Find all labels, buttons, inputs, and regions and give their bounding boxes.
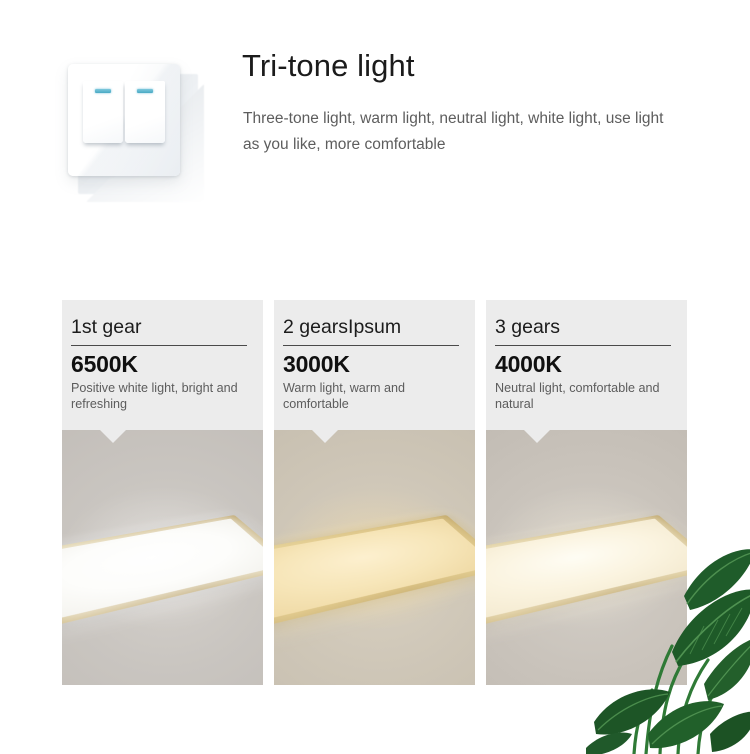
- gear-photo-1: [62, 430, 263, 685]
- gear-panel-3: 3 gears 4000K Neutral light, comfortable…: [486, 300, 687, 685]
- switch-plate: [68, 64, 180, 176]
- gear-label: 2 gearsIpsum: [283, 316, 465, 338]
- gear-panel-1-header: 1st gear 6500K Positive white light, bri…: [62, 300, 263, 430]
- pointer-triangle-icon: [100, 430, 126, 443]
- gear-kelvin-value: 4000K: [495, 351, 677, 377]
- gear-label: 3 gears: [495, 316, 677, 338]
- gear-panel-2: 2 gearsIpsum 3000K Warm light, warm and …: [274, 300, 475, 685]
- wall-switch-illustration: [62, 56, 202, 196]
- gear-kelvin-value: 3000K: [283, 351, 465, 377]
- page-title: Tri-tone light: [242, 48, 415, 84]
- gear-panel-1: 1st gear 6500K Positive white light, bri…: [62, 300, 263, 685]
- gear-kelvin-value: 6500K: [71, 351, 253, 377]
- gear-photo-2: [274, 430, 475, 685]
- led-indicator-icon: [95, 89, 111, 93]
- gear-panel-3-header: 3 gears 4000K Neutral light, comfortable…: [486, 300, 687, 430]
- divider: [283, 345, 459, 346]
- gear-description: Warm light, warm and comfortable: [283, 380, 465, 412]
- gear-description: Neutral light, comfortable and natural: [495, 380, 677, 412]
- divider: [71, 345, 247, 346]
- pointer-triangle-icon: [312, 430, 338, 443]
- hero-section: Tri-tone light Three-tone light, warm li…: [0, 0, 750, 270]
- page-description: Three-tone light, warm light, neutral li…: [243, 106, 683, 158]
- pointer-triangle-icon: [524, 430, 550, 443]
- gear-photo-3: [486, 430, 687, 685]
- switch-rocker-right[interactable]: [125, 81, 165, 143]
- gear-panel-group: 1st gear 6500K Positive white light, bri…: [62, 300, 688, 685]
- gear-description: Positive white light, bright and refresh…: [71, 380, 253, 412]
- switch-rocker-group: [83, 81, 165, 143]
- led-indicator-icon: [137, 89, 153, 93]
- switch-rocker-left[interactable]: [83, 81, 123, 143]
- divider: [495, 345, 671, 346]
- gear-label: 1st gear: [71, 316, 253, 338]
- gear-panel-2-header: 2 gearsIpsum 3000K Warm light, warm and …: [274, 300, 475, 430]
